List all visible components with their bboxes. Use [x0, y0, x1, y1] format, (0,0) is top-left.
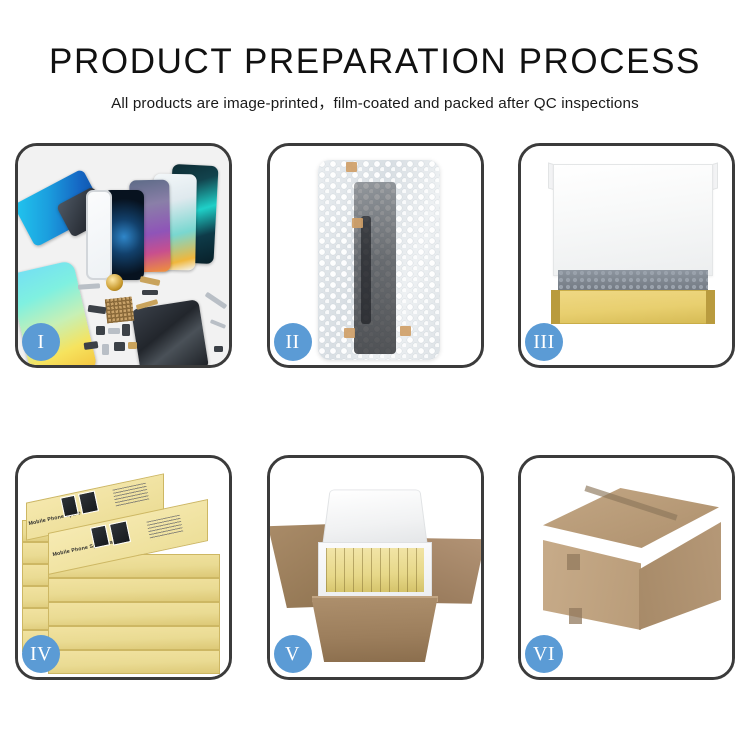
carton-tape-graphic: [567, 554, 580, 570]
spare-part-graphic: [88, 305, 107, 314]
stacked-box-graphic: [48, 650, 220, 674]
step-badge-1: I: [22, 323, 60, 361]
process-row-2: Mobile Phone Spare Parts Mobile Phone Sp…: [0, 455, 750, 680]
tape-strip-graphic: [400, 326, 411, 336]
gold-connector-graphic: [106, 274, 123, 291]
tweezers-graphic: [205, 292, 228, 310]
process-card-step-2[interactable]: II: [267, 143, 484, 368]
yellow-boxes-inside-graphic: [326, 548, 424, 592]
stacked-box-graphic: [48, 626, 220, 650]
step-badge-5: V: [274, 635, 312, 673]
wrapped-product-graphic: [354, 182, 396, 354]
spare-part-graphic: [128, 342, 137, 349]
phone-back-shell-graphic: [131, 299, 209, 365]
page-title: PRODUCT PREPARATION PROCESS: [0, 42, 750, 82]
spare-part-graphic: [114, 342, 125, 351]
carton-front-face-graphic: [543, 540, 641, 630]
styrofoam-lid-graphic: [321, 490, 428, 550]
process-row-1: I II: [0, 143, 750, 368]
spare-part-graphic: [102, 344, 109, 355]
step-badge-2: II: [274, 323, 312, 361]
chip-grid-graphic: [105, 297, 134, 324]
spare-part-graphic: [122, 324, 130, 336]
tape-strip-graphic: [352, 218, 363, 228]
step-badge-4: IV: [22, 635, 60, 673]
carton-tape-graphic: [569, 608, 582, 624]
tape-strip-graphic: [344, 328, 355, 338]
stacked-box-graphic: [48, 578, 220, 602]
bubble-wrap-bag-graphic: [318, 160, 440, 360]
page-subtitle: All products are image-printed，film-coat…: [0, 91, 750, 113]
tool-graphic: [210, 319, 226, 329]
tape-strip-graphic: [346, 162, 357, 172]
white-box-lid-graphic: [553, 164, 713, 276]
stacked-box-graphic: [48, 602, 220, 626]
step-badge-3: III: [525, 323, 563, 361]
tempered-glass-graphic: [86, 190, 112, 280]
spare-part-graphic: [142, 290, 158, 295]
spare-part-graphic: [84, 341, 99, 350]
carton-base-graphic: [312, 598, 438, 662]
process-card-step-4[interactable]: Mobile Phone Spare Parts Mobile Phone Sp…: [15, 455, 232, 680]
spare-part-graphic: [140, 276, 161, 286]
spare-part-graphic: [78, 283, 100, 290]
process-card-step-5[interactable]: V: [267, 455, 484, 680]
yellow-box-base-graphic: [551, 290, 715, 324]
process-card-step-6[interactable]: VI: [518, 455, 735, 680]
box-base-left-edge-graphic: [551, 290, 560, 324]
process-card-step-1[interactable]: I: [15, 143, 232, 368]
box-base-right-edge-graphic: [706, 290, 715, 324]
process-card-step-3[interactable]: III: [518, 143, 735, 368]
process-step-grid: I II: [0, 143, 750, 680]
step-badge-6: VI: [525, 635, 563, 673]
spare-part-graphic: [214, 346, 223, 352]
spare-part-graphic: [96, 326, 105, 335]
spare-part-graphic: [108, 328, 120, 334]
page-header: PRODUCT PREPARATION PROCESS All products…: [0, 0, 750, 113]
flex-cable-graphic: [361, 216, 371, 324]
